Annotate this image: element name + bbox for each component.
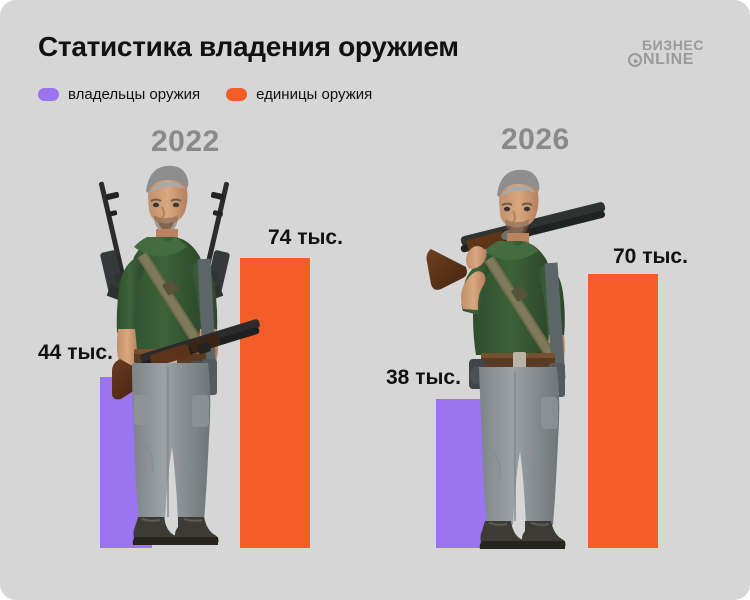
head bbox=[146, 166, 188, 233]
legend-swatch-orange bbox=[226, 88, 247, 101]
group-year-2026: 2026 bbox=[501, 123, 570, 157]
logo-text-bottom: NLINE bbox=[643, 52, 694, 68]
page-title: Статистика владения оружием bbox=[38, 31, 459, 63]
brand-logo: БИЗНЕС NLINE bbox=[628, 38, 720, 68]
legend-label-owners: владельцы оружия bbox=[68, 86, 200, 103]
clock-icon bbox=[628, 53, 642, 67]
logo-text-top: БИЗНЕС bbox=[628, 38, 720, 52]
legend-swatch-purple bbox=[38, 88, 59, 101]
group-year-2022: 2022 bbox=[151, 125, 220, 159]
infographic-canvas: Статистика владения оружием БИЗНЕС NLINE… bbox=[0, 0, 750, 600]
legend-item-owners: владельцы оружия bbox=[38, 86, 200, 103]
logo-text-bottom-wrap: NLINE bbox=[628, 52, 720, 68]
chart-legend: владельцы оружия единицы оружия bbox=[38, 86, 372, 103]
man-with-three-guns-illustration bbox=[98, 163, 312, 555]
man-with-shotgun-illustration bbox=[425, 163, 639, 555]
legend-item-units: единицы оружия bbox=[226, 86, 372, 103]
legend-label-units: единицы оружия bbox=[256, 86, 372, 103]
